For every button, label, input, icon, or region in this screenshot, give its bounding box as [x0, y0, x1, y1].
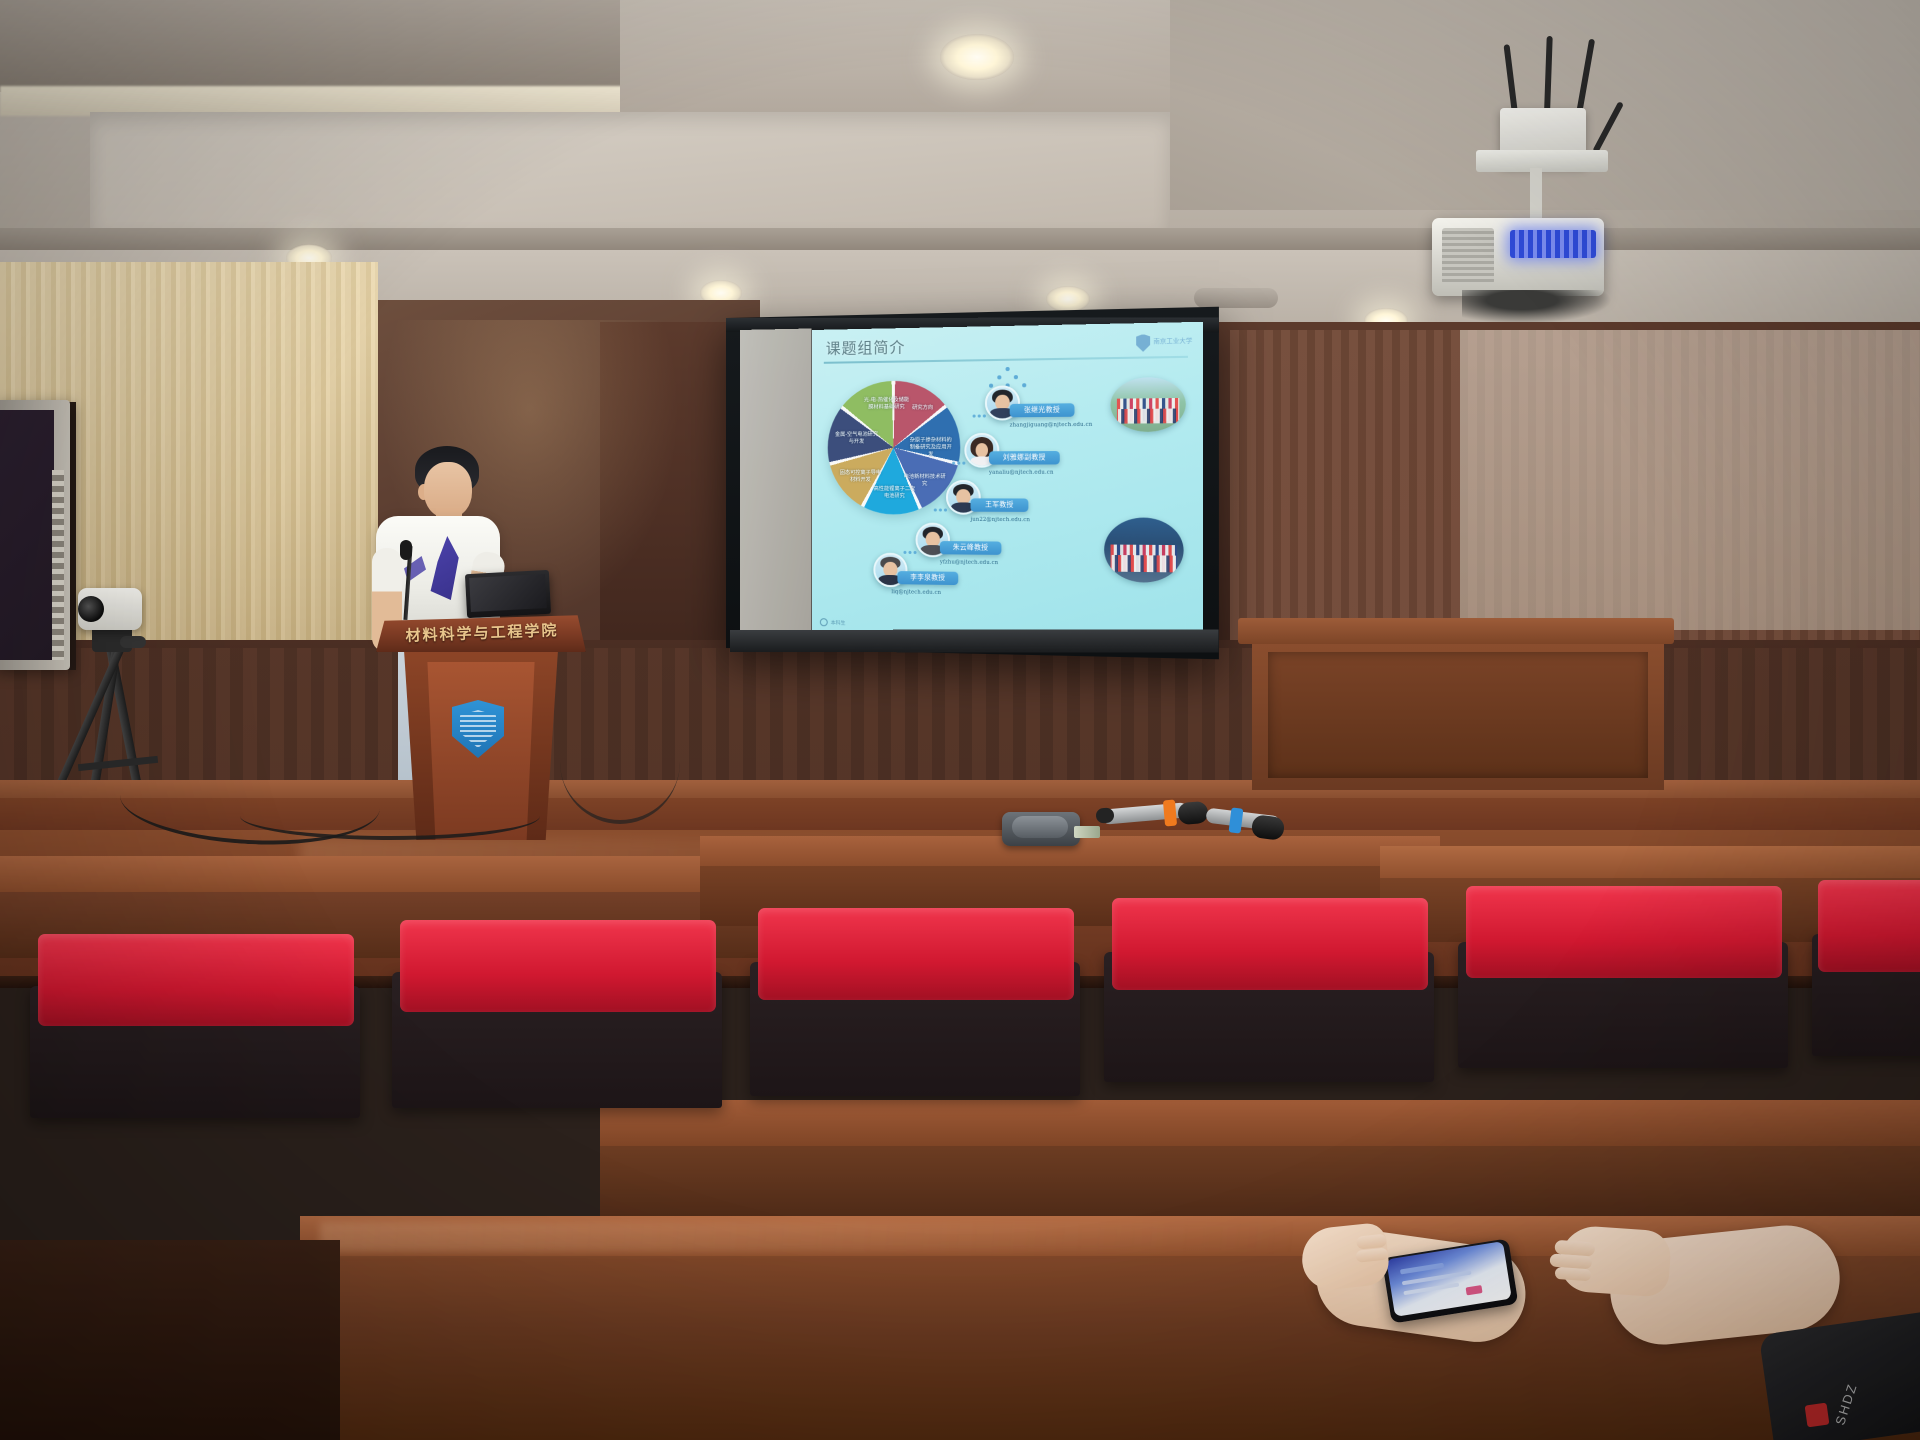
ceiling-recess-left — [0, 0, 700, 92]
mic-color-band-orange — [1163, 800, 1177, 827]
projector-vent — [1442, 228, 1494, 284]
connector-dots — [934, 508, 947, 511]
side-cabinet-panel — [1268, 652, 1648, 778]
slide-footer: 本科生 — [820, 618, 846, 627]
faculty-email: zhangjiguang@njtech.edu.cn — [1010, 422, 1093, 429]
group-photo-indoor — [1104, 517, 1183, 583]
projected-slide: 课题组简介 南京工业大学 研究方向 杂原子掺杂材料的制备研究及应用开发 电池新材… — [812, 322, 1203, 640]
faculty-email: yfzhu@njtech.edu.cn — [940, 559, 998, 566]
connector-dots — [973, 414, 986, 417]
wall-panel-right — [1460, 330, 1920, 630]
downlight-icon — [1046, 286, 1090, 312]
university-logo: 南京工业大学 — [1136, 330, 1194, 354]
group-photo-outdoor — [1111, 377, 1186, 432]
projector-pole — [1530, 168, 1542, 224]
ceiling-vent — [1194, 288, 1278, 308]
pie-label-heteroatom-doped: 杂原子掺杂材料的制备研究及应用开发 — [907, 437, 954, 459]
faculty-name-badge: 张继光教授 — [1010, 403, 1075, 417]
camera-lens-icon — [78, 596, 104, 622]
faculty-email: liq@njtech.edu.cn — [891, 589, 941, 596]
display-panel-buttons[interactable] — [52, 470, 64, 660]
podium-microphone-head — [400, 540, 412, 560]
lecture-hall-photo: 课题组简介 南京工业大学 研究方向 杂原子掺杂材料的制备研究及应用开发 电池新材… — [0, 0, 1920, 1440]
sleeve-patch — [1805, 1403, 1830, 1428]
faculty-name-badge: 刘雅娜副教授 — [989, 451, 1060, 465]
downlight-icon — [940, 34, 1014, 80]
projector-indicator-lights — [1510, 230, 1596, 258]
research-directions-pie-chart: 研究方向 杂原子掺杂材料的制备研究及应用开发 电池新材料技术研究 高性能锂离子二… — [828, 380, 961, 515]
connector-dots — [903, 551, 916, 554]
faculty-name-badge: 王军教授 — [971, 498, 1029, 512]
projector-mount — [1476, 150, 1608, 172]
floor-cable — [560, 700, 680, 824]
side-cabinet-top — [1238, 618, 1674, 644]
footer-dot-icon — [820, 618, 828, 626]
table-front-right — [1380, 846, 1920, 878]
table-front-left — [0, 856, 760, 892]
ceiling-slab-main — [90, 112, 1170, 230]
projection-screen-unlit-area — [740, 328, 811, 637]
faculty-email: yanaliu@njtech.edu.cn — [989, 470, 1053, 476]
projection-screen-bottom-bar — [730, 629, 1218, 652]
connector-dots — [952, 462, 965, 465]
pie-label-metal-air-battery: 金属-空气电池研究与开发 — [834, 432, 880, 446]
pie-label-solid-state-ion: 固态可控离子导电材料开发 — [838, 470, 884, 484]
conference-unit-speaker-grille — [1012, 816, 1068, 838]
audience-table-back — [600, 1100, 1920, 1146]
tripod-knob[interactable] — [120, 636, 146, 648]
display-panel-screen[interactable] — [0, 410, 54, 660]
audience-table-back-face — [600, 1140, 1920, 1220]
shield-icon — [1136, 334, 1150, 352]
ceiling-slab-center — [620, 0, 1180, 120]
faculty-name-badge: 朱云峰教授 — [940, 541, 1002, 555]
slide-title: 课题组简介 — [826, 336, 906, 359]
university-logo-text: 南京工业大学 — [1153, 339, 1192, 347]
laptop-screen[interactable] — [469, 574, 547, 612]
usb-drive[interactable] — [1074, 826, 1100, 838]
floor-shadow — [0, 1240, 340, 1440]
audience-hand-right — [1558, 1224, 1672, 1298]
slide-footer-label: 本科生 — [831, 619, 846, 626]
pie-label-lithium-ion: 高性能锂离子二次电池研究 — [871, 486, 917, 500]
pie-label-photo-electro-catalysis: 光-电-热催化及储能膜材料基础研究 — [863, 397, 909, 412]
faculty-email: jun22@njtech.edu.cn — [971, 517, 1031, 523]
table-reflection — [320, 1222, 1300, 1252]
projector-cables — [1462, 290, 1612, 324]
faculty-name-badge: 李李泉教授 — [897, 571, 958, 585]
floor-cable — [240, 792, 540, 840]
